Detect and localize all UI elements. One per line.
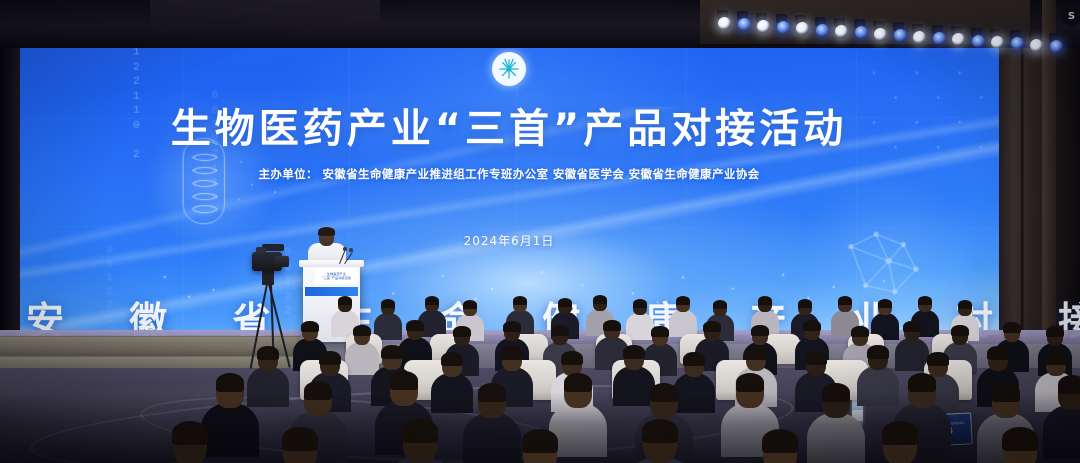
audience-member-hair (593, 295, 607, 304)
audience-member-hair (503, 321, 520, 332)
audience-member-hair (927, 352, 948, 366)
audience-member-hair (878, 299, 892, 308)
audience-member-shoulders (247, 367, 289, 407)
audience-member-hair (282, 427, 319, 452)
audience-member-hair (987, 346, 1008, 360)
audience-member-hair (736, 373, 765, 392)
podium-sign: 生物医药产业 “三首”产品对接活动 (315, 269, 358, 284)
stage-light-blue (855, 26, 868, 39)
audience-member-hair (603, 320, 620, 331)
video-camera-viewfinder (256, 247, 266, 253)
audience-member-hair (623, 345, 644, 359)
audience-member-shoulders (857, 366, 899, 406)
audience-member-hair (1002, 427, 1039, 452)
audience-member-hair (651, 326, 668, 337)
audience-member-hair (822, 383, 851, 402)
audience-member-hair (958, 300, 972, 309)
audience-member-hair (551, 325, 568, 336)
audience-member-hair (501, 346, 522, 360)
audience-member-hair (441, 352, 462, 366)
stage-light-white (952, 33, 965, 46)
audience-member-hair (338, 296, 352, 305)
stage-light-white (874, 28, 887, 41)
speaker-hair (318, 227, 335, 236)
audience-member-hair (851, 326, 868, 337)
audience-member-hair (561, 351, 582, 365)
audience-member-hair (867, 345, 888, 359)
audience-member-shoulders (673, 373, 715, 413)
event-organizers: 主办单位： 安徽省生命健康产业推进组工作专班办公室 安徽省医学会 安徽省生命健康… (18, 166, 1000, 182)
podium-top (299, 260, 364, 267)
audience-member-hair (1045, 351, 1066, 365)
audience-member-hair (257, 346, 278, 360)
audience-member-hair (216, 373, 245, 392)
audience-member-hair (751, 325, 768, 336)
audience-member-hair (745, 346, 766, 360)
audience-member-hair (676, 296, 690, 305)
audience-member-hair (992, 383, 1021, 402)
audience-member-hair (406, 320, 423, 331)
audience-member-hair (425, 296, 439, 305)
audience-member-hair (642, 419, 679, 444)
audience-member-hair (683, 352, 704, 366)
audience-member-hair (522, 429, 559, 454)
audience-member-shoulders (807, 413, 865, 463)
stage-light-blue (894, 29, 907, 42)
stage-light-row (0, 0, 1080, 60)
audience-member-hair (838, 296, 852, 305)
video-camera-lens (275, 256, 289, 267)
event-date: 2024年6月1日 (18, 232, 1000, 249)
audience-member-hair (463, 300, 477, 309)
audience-member-hair (1058, 375, 1080, 394)
audience-member-hair (803, 320, 820, 331)
audience-member-hair (951, 325, 968, 336)
audience-member-hair (903, 321, 920, 332)
podium-accent-stripe (305, 287, 358, 296)
audience-member-hair (758, 296, 772, 305)
audience-member-hair (762, 429, 799, 454)
audience-member-shoulders (669, 310, 697, 337)
event-title: 生物医药产业“三首”产品对接活动 (18, 96, 1000, 154)
audience-member-hair (381, 299, 395, 308)
audience-member-hair (478, 383, 507, 402)
watermark-text: S (1068, 11, 1075, 22)
audience-member-hair (301, 321, 318, 332)
audience-member-hair (513, 296, 527, 305)
stage-light-blue (816, 24, 829, 37)
audience-member-shoulders (201, 403, 259, 457)
audience-member-hair (453, 326, 470, 337)
stage-light-blue (933, 32, 946, 45)
audience-member-hair (558, 298, 572, 307)
audience-member-hair (353, 325, 370, 336)
stage-light-white (991, 36, 1004, 49)
stage-light-white (757, 20, 770, 33)
audience-member-hair (564, 373, 593, 392)
audience-member-hair (402, 419, 439, 444)
audience-member-hair (1046, 326, 1063, 337)
audience-member-hair (650, 383, 679, 402)
conference-photo-scene: 00122110 2 00122110 00122 001221 (0, 0, 1080, 463)
tripod-head (262, 269, 274, 285)
audience-member-shoulders (463, 413, 521, 463)
audience-member-hair (319, 351, 340, 365)
stage-light-blue (1011, 37, 1024, 50)
stage-light-white (913, 31, 926, 44)
audience-member-hair (381, 345, 402, 359)
audience-member-hair (882, 421, 919, 446)
audience-member-shoulders (613, 366, 655, 406)
audience-member-hair (304, 381, 333, 400)
audience-member-shoulders (626, 313, 654, 340)
podium-sign-line-2: “三首”产品对接活动 (322, 277, 351, 280)
audience-member-shoulders (431, 373, 473, 413)
audience-member-hair (908, 373, 937, 392)
stage-light-white (796, 22, 809, 35)
microphone-head-1 (343, 247, 347, 251)
audience-member-shoulders (1043, 405, 1080, 459)
stage-light-blue (777, 21, 790, 34)
audience-member-hair (703, 321, 720, 332)
audience-member-hair (390, 371, 419, 390)
corner-watermark: S (1062, 7, 1080, 26)
audience-member-hair (918, 296, 932, 305)
audience-member-hair (172, 421, 209, 446)
stage-light-blue (972, 35, 985, 48)
stage-light-blue (1050, 40, 1063, 53)
audience-member-hair (805, 351, 826, 365)
audience-member-hair (798, 299, 812, 308)
stage-light-white (1030, 39, 1043, 52)
stage-light-blue (738, 18, 751, 31)
stage-light-white (718, 17, 731, 30)
audience-member-shoulders (345, 342, 379, 374)
stage-light-white (835, 25, 848, 38)
microphone-head-2 (349, 248, 353, 252)
audience-member-hair (633, 299, 647, 308)
audience-member-hair (1003, 322, 1020, 333)
audience-member-hair (713, 300, 727, 309)
